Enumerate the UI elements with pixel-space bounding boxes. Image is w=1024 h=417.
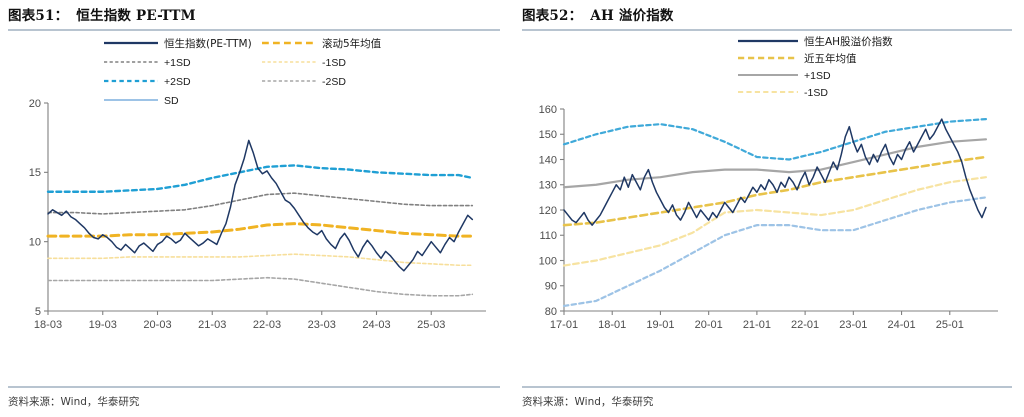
x-axis-tick-label: 21-01 [743, 319, 771, 331]
series-line [564, 157, 986, 225]
x-axis-tick-label: 20-01 [695, 319, 723, 331]
x-axis-tick-label: 25-01 [936, 319, 964, 331]
series-line [564, 119, 986, 159]
series-line [48, 254, 472, 265]
page-title-left: 恒生指数 PE-TTM [76, 4, 196, 24]
legend-label: +1SD [804, 70, 831, 82]
y-axis-tick-label: 80 [545, 306, 557, 318]
y-axis-tick-label: 15 [29, 167, 41, 179]
series-line [48, 224, 472, 236]
page-title-right: AH 溢价指数 [590, 4, 673, 24]
panel-title-row-right: 图表52： AH 溢价指数 [522, 4, 1012, 24]
x-axis-tick-label: 22-01 [791, 319, 819, 331]
x-axis-tick-label: 21-03 [198, 319, 226, 331]
exhibit-board: 图表51： 恒生指数 PE-TTM 恒生指数(PE-TTM)滚动5年均值+1SD… [0, 0, 1024, 417]
legend-label: -1SD [322, 57, 346, 69]
y-axis-tick-label: 140 [539, 154, 557, 166]
legend-label: SD [164, 95, 179, 107]
legend-label: 滚动5年均值 [322, 37, 382, 50]
legend-label: 近五年均值 [804, 52, 857, 65]
series-line [48, 278, 472, 296]
exhibit-number-right: 图表52： [522, 4, 582, 24]
panel-ah-premium: 图表52： AH 溢价指数 恒生AH股溢价指数近五年均值+1SD-1SD8090… [512, 0, 1024, 417]
panel-header-left: 图表51： 恒生指数 PE-TTM [8, 0, 500, 31]
y-axis-tick-label: 20 [29, 98, 41, 110]
y-axis-tick-label: 130 [539, 180, 557, 192]
y-axis-tick-label: 10 [29, 237, 41, 249]
y-axis-tick-label: 150 [539, 129, 557, 141]
x-axis-tick-label: 18-01 [598, 319, 626, 331]
panel-title-row-left: 图表51： 恒生指数 PE-TTM [8, 4, 500, 24]
y-axis-tick-label: 100 [539, 255, 557, 267]
y-axis-tick-label: 120 [539, 205, 557, 217]
source-note-left: 资料来源：Wind，华泰研究 [8, 394, 500, 409]
y-axis-tick-label: 110 [539, 230, 557, 242]
y-axis-tick-label: 90 [545, 281, 557, 293]
source-note-right: 资料来源：Wind，华泰研究 [522, 394, 1012, 409]
legend-label: -2SD [322, 76, 346, 88]
series-line [564, 177, 986, 265]
series-line [48, 140, 472, 270]
series-line [564, 139, 986, 187]
series-line [48, 193, 472, 214]
panel-footer-right: 资料来源：Wind，华泰研究 [512, 386, 1024, 409]
x-axis-tick-label: 17-01 [550, 319, 578, 331]
x-axis-tick-label: 23-01 [839, 319, 867, 331]
chart-canvas-ah-premium: 恒生AH股溢价指数近五年均值+1SD-1SD809010011012013014… [522, 31, 1012, 341]
y-axis-tick-label: 160 [539, 104, 557, 116]
legend-label: +2SD [164, 76, 191, 88]
chart-canvas-hsi-pe-ttm: 恒生指数(PE-TTM)滚动5年均值+1SD-1SD+2SD-2SDSD5101… [8, 31, 500, 341]
footer-divider-left [8, 386, 500, 388]
y-axis-tick-label: 5 [35, 306, 41, 318]
x-axis-tick-label: 23-03 [308, 319, 336, 331]
panel-header-right: 图表52： AH 溢价指数 [522, 0, 1012, 31]
legend-label: 恒生AH股溢价指数 [804, 35, 893, 48]
series-line [564, 197, 986, 306]
series-line [48, 165, 472, 191]
x-axis-tick-label: 25-03 [417, 319, 445, 331]
legend-label: -1SD [804, 87, 828, 99]
panel-footer-left: 资料来源：Wind，华泰研究 [0, 386, 512, 409]
x-axis-tick-label: 24-01 [887, 319, 915, 331]
x-axis-tick-label: 24-03 [362, 319, 390, 331]
x-axis-tick-label: 18-03 [34, 319, 62, 331]
panel-hsi-pe-ttm: 图表51： 恒生指数 PE-TTM 恒生指数(PE-TTM)滚动5年均值+1SD… [0, 0, 512, 417]
legend-label: +1SD [164, 57, 191, 69]
footer-divider-right [522, 386, 1012, 388]
x-axis-tick-label: 19-03 [89, 319, 117, 331]
exhibit-number-left: 图表51： [8, 4, 68, 24]
x-axis-tick-label: 22-03 [253, 319, 281, 331]
x-axis-tick-label: 20-03 [143, 319, 171, 331]
x-axis-tick-label: 19-01 [646, 319, 674, 331]
legend-label: 恒生指数(PE-TTM) [164, 37, 252, 50]
